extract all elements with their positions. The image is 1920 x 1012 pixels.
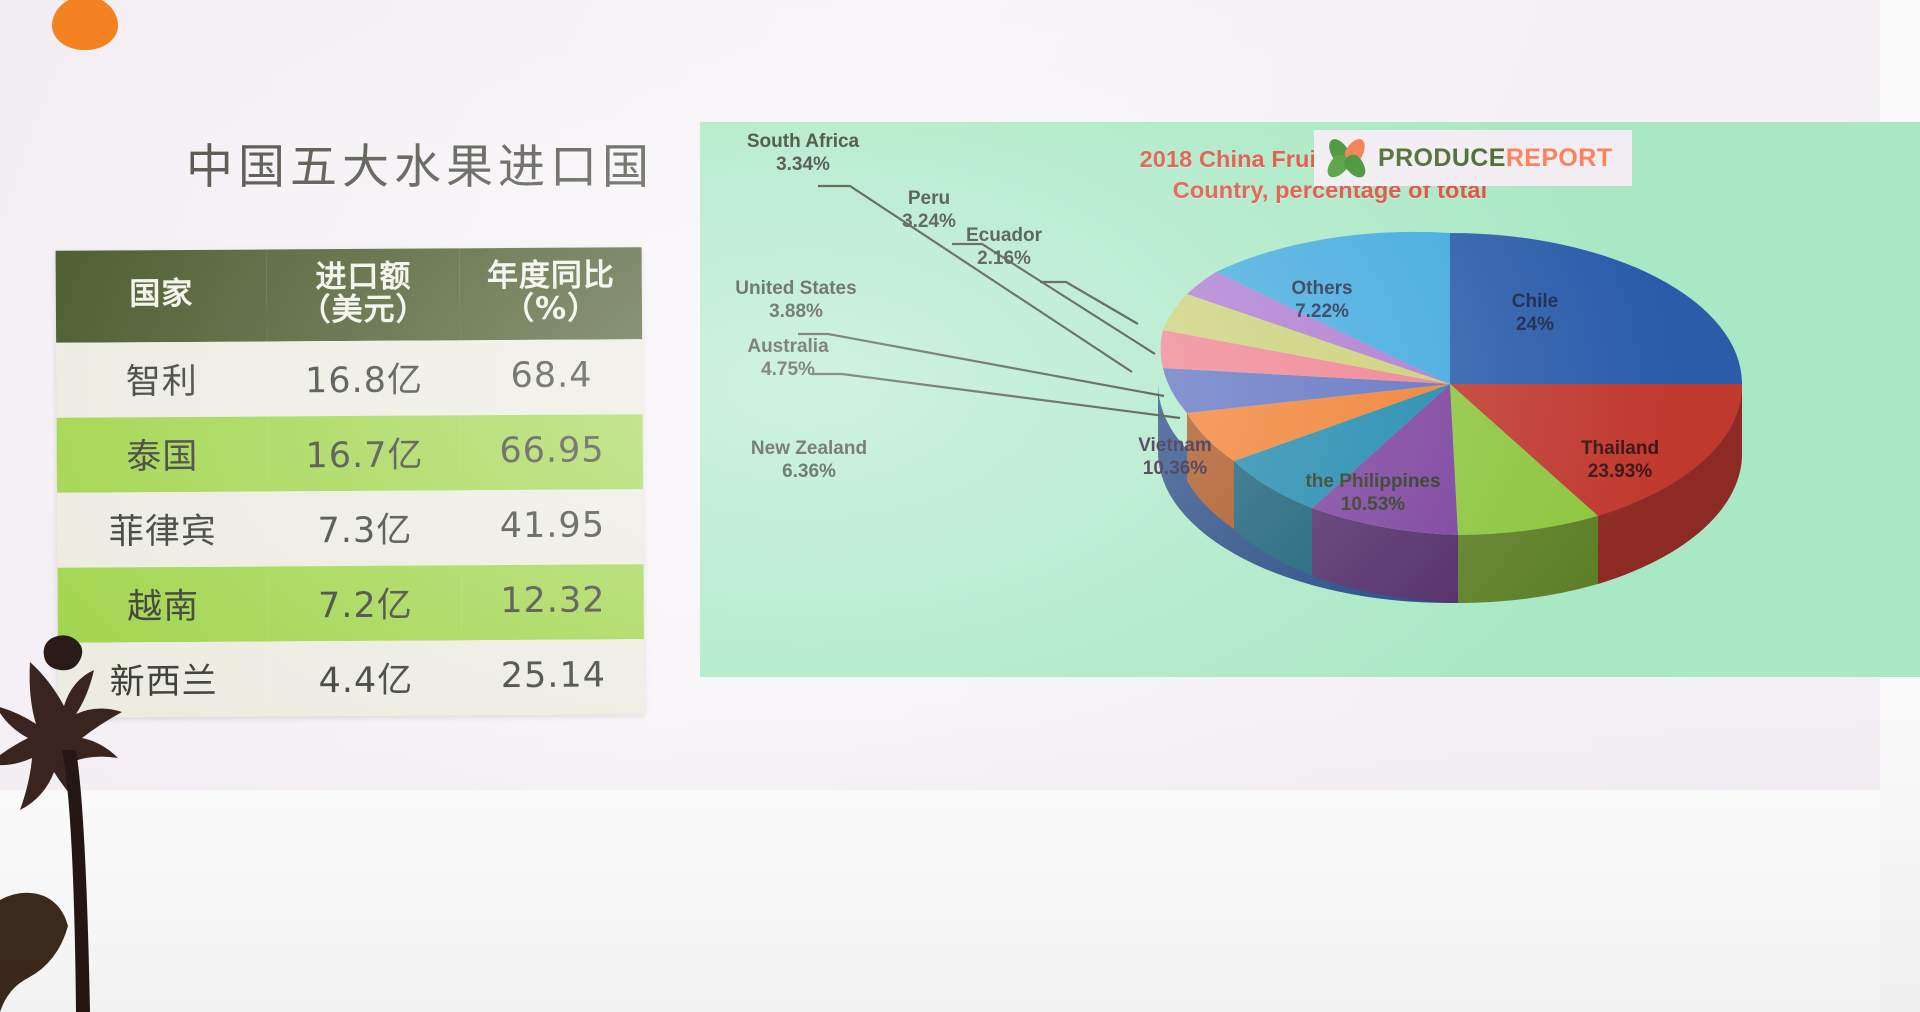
leader-ecuador — [1040, 282, 1138, 324]
cell-country: 智利 — [56, 341, 267, 417]
column-header-import-value: 进口额 （美元） — [267, 248, 461, 341]
cell-yoy: 68.4 — [460, 339, 642, 415]
pie-label-united-states: United States 3.88% — [696, 277, 896, 323]
cell-yoy: 12.32 — [462, 564, 644, 640]
pie-label-south-africa: South Africa 3.34% — [708, 130, 898, 176]
pie-label-philippines: the Philippines 10.53% — [1268, 470, 1478, 516]
cell-country: 泰国 — [57, 416, 268, 492]
cell-yoy: 66.95 — [461, 414, 643, 490]
slide-bottom-margin — [0, 790, 1920, 1012]
presentation-slide: 中国五大水果进口国 国家 进口额 （美元） 年度同比 （%） — [0, 0, 1920, 1012]
column-header-yoy: 年度同比 （%） — [460, 247, 642, 340]
pie-label-australia: Australia 4.75% — [708, 335, 868, 381]
cell-yoy: 25.14 — [462, 639, 644, 715]
cell-value: 7.3亿 — [268, 490, 462, 566]
table-row: 菲律宾 7.3亿 41.95 — [57, 489, 643, 568]
cell-value: 16.7亿 — [268, 415, 462, 491]
pie-label-new-zealand: New Zealand 6.36% — [744, 437, 874, 483]
table-header-row: 国家 进口额 （美元） 年度同比 （%） — [56, 247, 643, 342]
cell-value: 7.2亿 — [268, 565, 462, 641]
cell-country: 菲律宾 — [57, 491, 268, 567]
pie-label-others: Others 7.22% — [1252, 277, 1392, 323]
cell-yoy: 41.95 — [461, 489, 643, 565]
apple-logo-icon — [52, 0, 124, 52]
table-row: 泰国 16.7亿 66.95 — [57, 414, 643, 493]
cell-value: 4.4亿 — [269, 640, 463, 716]
pie-label-chile: Chile 24% — [1470, 290, 1600, 336]
pie-chart-panel: 2018 China Fruit Imports by Value Countr… — [700, 122, 1920, 677]
column-header-country: 国家 — [56, 250, 268, 343]
apple-body — [52, 0, 118, 50]
pie-chart: South Africa 3.34% Peru 3.24% Ecuador 2.… — [700, 122, 1920, 677]
page-title: 中国五大水果进口国 — [140, 128, 700, 197]
pie-label-ecuador: Ecuador 2.16% — [940, 224, 1068, 270]
pie-label-vietnam: Vietnam 10.36% — [1100, 434, 1250, 480]
table-row: 智利 16.8亿 68.4 — [56, 339, 642, 418]
pie-label-thailand: Thailand 23.93% — [1540, 437, 1700, 483]
cell-value: 16.8亿 — [267, 340, 461, 416]
foreground-silhouette — [0, 600, 190, 1012]
